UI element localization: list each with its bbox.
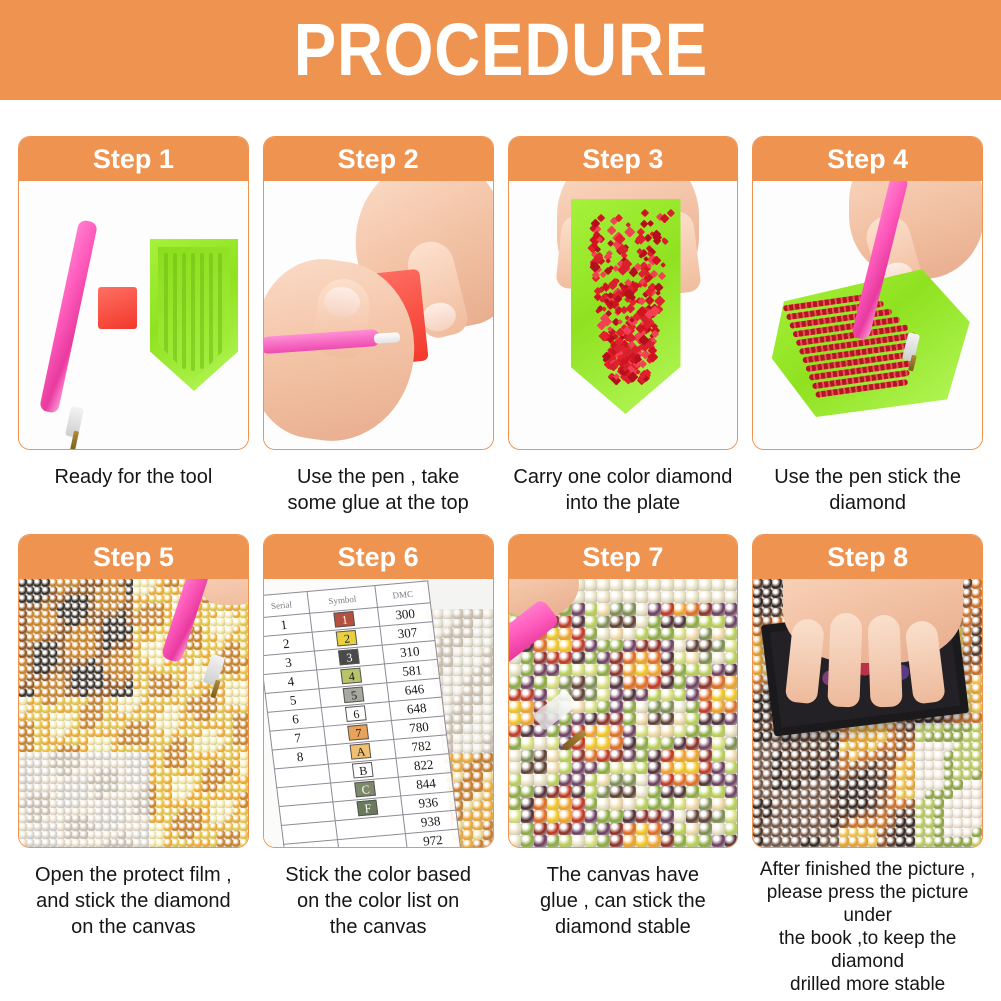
diamond-bead xyxy=(443,647,453,657)
diamond-bead xyxy=(111,674,119,682)
diamond-bead xyxy=(585,713,598,725)
diamond-bead xyxy=(172,768,180,776)
diamond-bead xyxy=(149,776,157,784)
diamond-bead xyxy=(610,762,623,774)
diamond-bead xyxy=(610,579,623,591)
diamond-bead xyxy=(111,823,119,831)
diamond-bead xyxy=(149,792,157,800)
diamond-bead xyxy=(661,737,674,749)
diamond-bead xyxy=(111,831,119,839)
diamond-bead xyxy=(674,652,687,664)
diamond-bead xyxy=(19,579,27,587)
diamond-bead xyxy=(19,815,27,823)
diamond-bead xyxy=(915,770,925,780)
diamond-bead xyxy=(126,666,134,674)
diamond-bead xyxy=(896,799,906,809)
diamond-bead xyxy=(95,666,103,674)
step-card-2[interactable]: Step 2 xyxy=(263,136,494,450)
diamond-bead xyxy=(963,598,973,608)
diamond-bead xyxy=(27,658,35,666)
diamond-bead xyxy=(194,705,202,713)
diamond-bead xyxy=(944,732,954,742)
diamond-bead xyxy=(483,638,493,648)
diamond-bead xyxy=(763,790,773,800)
step-cell-8: Step 8 After finished the picture , plea… xyxy=(752,534,983,996)
diamond-bead xyxy=(57,831,65,839)
diamond-bead xyxy=(172,705,180,713)
diamond-bead xyxy=(877,809,887,819)
diamond-bead xyxy=(791,799,801,809)
diamond-bead xyxy=(240,721,248,729)
diamond-bead xyxy=(194,752,202,760)
diamond-bead xyxy=(233,808,241,816)
diamond-bead xyxy=(217,776,225,784)
diamond-bead xyxy=(877,837,887,847)
diamond-bead xyxy=(453,724,463,734)
diamond-bead xyxy=(887,799,897,809)
diamond-bead xyxy=(453,753,463,763)
diamond-bead xyxy=(661,750,674,762)
step-card-5[interactable]: Step 5 xyxy=(18,534,249,848)
diamond-bead xyxy=(202,792,210,800)
diamond-bead xyxy=(194,745,202,753)
diamond-bead xyxy=(141,603,149,611)
diamond-bead xyxy=(88,721,96,729)
diamond-bead xyxy=(126,823,134,831)
diamond-bead xyxy=(877,790,887,800)
diamond-bead xyxy=(133,595,141,603)
diamond-bead xyxy=(233,681,241,689)
diamond-bead xyxy=(686,628,699,640)
diamond-bead xyxy=(95,587,103,595)
diamond-bead xyxy=(210,808,218,816)
step-header-3: Step 3 xyxy=(509,137,738,181)
diamond-bead xyxy=(194,839,202,847)
diamond-bead xyxy=(963,809,973,819)
diamond-bead xyxy=(463,705,473,715)
diamond-bead xyxy=(934,818,944,828)
diamond-bead xyxy=(194,823,202,831)
diamond-bead xyxy=(233,618,241,626)
diamond-bead xyxy=(149,595,157,603)
step-cell-1: Step 1 xyxy=(18,136,249,516)
diamond-bead xyxy=(225,705,233,713)
diamond-bead xyxy=(534,798,547,810)
diamond-bead xyxy=(648,616,661,628)
diamond-bead xyxy=(80,784,88,792)
diamond-bead xyxy=(126,595,134,603)
diamond-bead xyxy=(217,689,225,697)
step-cell-4: Step 4 Use the pen stick the diamond xyxy=(752,136,983,516)
diamond-bead xyxy=(661,835,674,847)
diamond-bead xyxy=(868,828,878,838)
diamond-bead xyxy=(42,768,50,776)
diamond-bead xyxy=(944,790,954,800)
diamond-bead xyxy=(95,721,103,729)
diamond-bead xyxy=(972,809,982,819)
diamond-bead xyxy=(597,652,610,664)
diamond-bead xyxy=(202,705,210,713)
diamond-bead xyxy=(80,721,88,729)
diamond-bead xyxy=(80,642,88,650)
diamond-bead xyxy=(839,761,849,771)
diamond-bead xyxy=(623,591,636,603)
diamond-bead xyxy=(636,774,649,786)
diamond-bead xyxy=(801,780,811,790)
diamond-bead xyxy=(65,689,73,697)
diamond-bead xyxy=(858,732,868,742)
diamond-bead xyxy=(463,628,473,638)
diamond-bead xyxy=(42,776,50,784)
step-card-6[interactable]: Step 6 SerialSymbolDMC 11300223073331044… xyxy=(263,534,494,848)
diamond-bead xyxy=(57,808,65,816)
diamond-bead xyxy=(149,705,157,713)
diamond-bead xyxy=(179,697,187,705)
diamond-bead xyxy=(887,837,897,847)
diamond-bead xyxy=(763,598,773,608)
diamond-bead xyxy=(133,776,141,784)
diamond-bead xyxy=(534,810,547,822)
diamond-bead xyxy=(179,823,187,831)
diamond-bead xyxy=(648,762,661,774)
diamond-bead xyxy=(103,800,111,808)
diamond-bead xyxy=(534,640,547,652)
scene-macro-diamonds xyxy=(509,579,738,847)
diamond-bead xyxy=(80,745,88,753)
diamond-bead xyxy=(820,790,830,800)
diamond-bead xyxy=(763,780,773,790)
diamond-bead xyxy=(674,823,687,835)
diamond-bead xyxy=(712,762,725,774)
diamond-bead xyxy=(534,823,547,835)
diamond-bead xyxy=(27,618,35,626)
diamond-bead xyxy=(597,750,610,762)
diamond-bead xyxy=(585,640,598,652)
diamond-bead xyxy=(149,823,157,831)
diamond-bead xyxy=(141,839,149,847)
diamond-bead xyxy=(521,774,534,786)
diamond-bead xyxy=(72,713,80,721)
diamond-bead xyxy=(661,810,674,822)
diamond-bead xyxy=(103,831,111,839)
diamond-bead xyxy=(65,713,73,721)
diamond-bead xyxy=(50,823,58,831)
diamond-bead xyxy=(88,626,96,634)
diamond-bead xyxy=(597,628,610,640)
diamond-bead xyxy=(887,723,897,733)
diamond-bead xyxy=(483,801,493,811)
diamond-bead xyxy=(521,676,534,688)
diamond-bead xyxy=(225,776,233,784)
diamond-bead xyxy=(725,786,738,798)
step-card-3[interactable]: Step 3 xyxy=(508,136,739,450)
diamond-bead xyxy=(572,676,585,688)
diamond-bead xyxy=(118,776,126,784)
diamond-bead xyxy=(830,751,840,761)
diamond-bead xyxy=(202,784,210,792)
diamond-bead xyxy=(141,760,149,768)
diamond-bead xyxy=(896,809,906,819)
diamond-bead xyxy=(686,798,699,810)
diamond-bead xyxy=(623,725,636,737)
diamond-bead xyxy=(34,792,42,800)
diamond-bead xyxy=(202,776,210,784)
diamond-bead xyxy=(95,642,103,650)
diamond-bead xyxy=(623,664,636,676)
diamond-bead xyxy=(27,784,35,792)
diamond-bead xyxy=(453,744,463,754)
diamond-bead xyxy=(521,737,534,749)
diamond-bead xyxy=(133,721,141,729)
diamond-bead xyxy=(233,674,241,682)
diamond-bead xyxy=(240,808,248,816)
diamond-bead xyxy=(217,634,225,642)
diamond-bead xyxy=(111,729,119,737)
diamond-bead xyxy=(240,823,248,831)
diamond-bead xyxy=(111,800,119,808)
diamond-bead xyxy=(572,774,585,786)
diamond-canvas-mosaic xyxy=(19,579,248,847)
diamond-bead xyxy=(50,752,58,760)
diamond-bead xyxy=(179,752,187,760)
diamond-bead xyxy=(944,723,954,733)
diamond-bead xyxy=(686,603,699,615)
diamond-bead xyxy=(95,823,103,831)
diamond-bead xyxy=(50,642,58,650)
diamond-bead xyxy=(172,784,180,792)
diamond-bead xyxy=(50,681,58,689)
diamond-bead xyxy=(648,579,661,591)
diamond-bead xyxy=(585,750,598,762)
diamond-bead xyxy=(118,800,126,808)
diamond-bead xyxy=(65,618,73,626)
diamond-bead xyxy=(463,657,473,667)
diamond-bead xyxy=(648,701,661,713)
diamond-bead xyxy=(42,650,50,658)
diamond-bead xyxy=(772,780,782,790)
diamond-bead xyxy=(623,737,636,749)
diamond-bead xyxy=(753,579,763,589)
diamond-bead xyxy=(443,619,453,629)
diamond-bead xyxy=(194,626,202,634)
diamond-bead xyxy=(57,721,65,729)
diamond-bead xyxy=(661,616,674,628)
diamond-bead xyxy=(34,611,42,619)
step-header-label-2: Step 2 xyxy=(338,144,419,174)
diamond-bead xyxy=(953,751,963,761)
diamond-bead xyxy=(141,784,149,792)
diamond-bead xyxy=(65,603,73,611)
diamond-bead xyxy=(50,729,58,737)
diamond-bead xyxy=(585,676,598,688)
diamond-bead xyxy=(572,750,585,762)
diamond-bead xyxy=(187,768,195,776)
diamond-bead xyxy=(141,587,149,595)
diamond-bead xyxy=(473,753,483,763)
diamond-bead xyxy=(156,737,164,745)
diamond-bead xyxy=(953,828,963,838)
diamond-bead xyxy=(42,603,50,611)
diamond-bead xyxy=(57,792,65,800)
diamond-bead xyxy=(240,745,248,753)
diamond-bead xyxy=(934,828,944,838)
diamond-bead xyxy=(34,595,42,603)
diamond-bead xyxy=(126,737,134,745)
diamond-bead xyxy=(202,823,210,831)
diamond-bead xyxy=(50,776,58,784)
diamond-bead xyxy=(118,815,126,823)
diamond-bead xyxy=(149,831,157,839)
scene-diamonds-in-tray xyxy=(509,181,738,449)
symbol-swatch: 1 xyxy=(334,611,356,628)
diamond-bead xyxy=(453,782,463,792)
diamond-bead xyxy=(118,808,126,816)
diamond-bead xyxy=(217,752,225,760)
diamond-bead xyxy=(225,737,233,745)
diamond-bead xyxy=(925,818,935,828)
diamond-bead xyxy=(820,780,830,790)
step-card-4[interactable]: Step 4 xyxy=(752,136,983,450)
diamond-bead xyxy=(887,770,897,780)
diamond-bead xyxy=(34,784,42,792)
diamond-bead xyxy=(118,752,126,760)
diamond-bead xyxy=(156,587,164,595)
step-card-7[interactable]: Step 7 xyxy=(508,534,739,848)
diamond-bead xyxy=(772,742,782,752)
step-caption-3: Carry one color diamond into the plate xyxy=(508,464,739,516)
diamond-bead xyxy=(118,792,126,800)
diamond-bead xyxy=(963,751,973,761)
diamond-bead xyxy=(572,603,585,615)
diamond-bead xyxy=(772,589,782,599)
step-card-1[interactable]: Step 1 xyxy=(18,136,249,450)
diamond-bead xyxy=(233,721,241,729)
diamond-bead xyxy=(233,650,241,658)
diamond-bead xyxy=(763,589,773,599)
diamond-bead xyxy=(164,666,172,674)
diamond-bead xyxy=(42,697,50,705)
diamond-bead xyxy=(547,786,560,798)
diamond-bead xyxy=(42,752,50,760)
diamond-bead xyxy=(194,634,202,642)
diamond-bead xyxy=(830,770,840,780)
diamond-bead xyxy=(725,640,738,652)
diamond-bead xyxy=(623,603,636,615)
diamond-bead xyxy=(699,676,712,688)
diamond-bead xyxy=(164,815,172,823)
diamond-bead xyxy=(57,681,65,689)
diamond-bead xyxy=(699,774,712,786)
diamond-bead xyxy=(103,776,111,784)
diamond-bead xyxy=(839,751,849,761)
diamond-bead xyxy=(585,603,598,615)
diamond-bead xyxy=(194,760,202,768)
diamond-bead xyxy=(972,636,982,646)
diamond-bead xyxy=(483,686,493,696)
diamond-bead xyxy=(225,681,233,689)
diamond-bead xyxy=(126,587,134,595)
diamond-bead xyxy=(559,774,572,786)
diamond-bead xyxy=(126,784,134,792)
diamond-bead xyxy=(42,721,50,729)
diamond-bead xyxy=(126,618,134,626)
diamond-bead xyxy=(156,674,164,682)
diamond-bead xyxy=(103,823,111,831)
diamond-bead xyxy=(810,790,820,800)
diamond-bead xyxy=(963,828,973,838)
diamond-bead xyxy=(111,689,119,697)
diamond-bead xyxy=(34,658,42,666)
diamond-bead xyxy=(858,761,868,771)
diamond-bead xyxy=(194,681,202,689)
diamond-bead xyxy=(225,760,233,768)
diamond-bead xyxy=(712,603,725,615)
diamond-bead xyxy=(156,634,164,642)
diamond-bead xyxy=(50,808,58,816)
diamond-bead xyxy=(810,828,820,838)
diamond-bead xyxy=(753,828,763,838)
diamond-bead xyxy=(72,808,80,816)
diamond-bead xyxy=(126,729,134,737)
diamond-bead xyxy=(19,642,27,650)
diamond-bead xyxy=(572,664,585,676)
diamond-bead xyxy=(156,729,164,737)
diamond-bead xyxy=(712,750,725,762)
diamond-bead xyxy=(868,837,878,847)
diamond-bead xyxy=(483,676,493,686)
diamond-bead xyxy=(118,697,126,705)
diamond-bead xyxy=(972,703,982,713)
diamond-bead xyxy=(187,697,195,705)
diamond-bead xyxy=(699,640,712,652)
diamond-bead xyxy=(648,798,661,810)
diamond-bead xyxy=(753,713,763,723)
diamond-bead xyxy=(27,729,35,737)
diamond-bead xyxy=(849,790,859,800)
diamond-bead xyxy=(103,784,111,792)
diamond-bead xyxy=(772,828,782,838)
diamond-bead xyxy=(674,786,687,798)
diamond-bead xyxy=(149,697,157,705)
diamond-bead xyxy=(42,666,50,674)
diamond-bead xyxy=(699,823,712,835)
diamond-bead xyxy=(19,808,27,816)
diamond-bead xyxy=(753,598,763,608)
diamond-bead xyxy=(877,751,887,761)
diamond-bead xyxy=(72,752,80,760)
diamond-bead xyxy=(34,831,42,839)
diamond-bead xyxy=(559,628,572,640)
diamond-bead xyxy=(57,587,65,595)
diamond-bead xyxy=(65,784,73,792)
diamond-bead xyxy=(133,784,141,792)
diamond-bead xyxy=(636,676,649,688)
diamond-bead xyxy=(791,742,801,752)
diamond-bead xyxy=(118,587,126,595)
diamond-bead xyxy=(194,674,202,682)
diamond-bead xyxy=(849,770,859,780)
step-header-label-7: Step 7 xyxy=(582,542,663,572)
step-card-8[interactable]: Step 8 xyxy=(752,534,983,848)
page-banner: PROCEDURE xyxy=(0,0,1001,100)
diamond-bead xyxy=(240,681,248,689)
diamond-bead xyxy=(225,839,233,847)
diamond-bead xyxy=(95,831,103,839)
diamond-bead xyxy=(27,650,35,658)
diamond-bead xyxy=(42,642,50,650)
diamond-bead xyxy=(725,652,738,664)
diamond-bead xyxy=(126,831,134,839)
